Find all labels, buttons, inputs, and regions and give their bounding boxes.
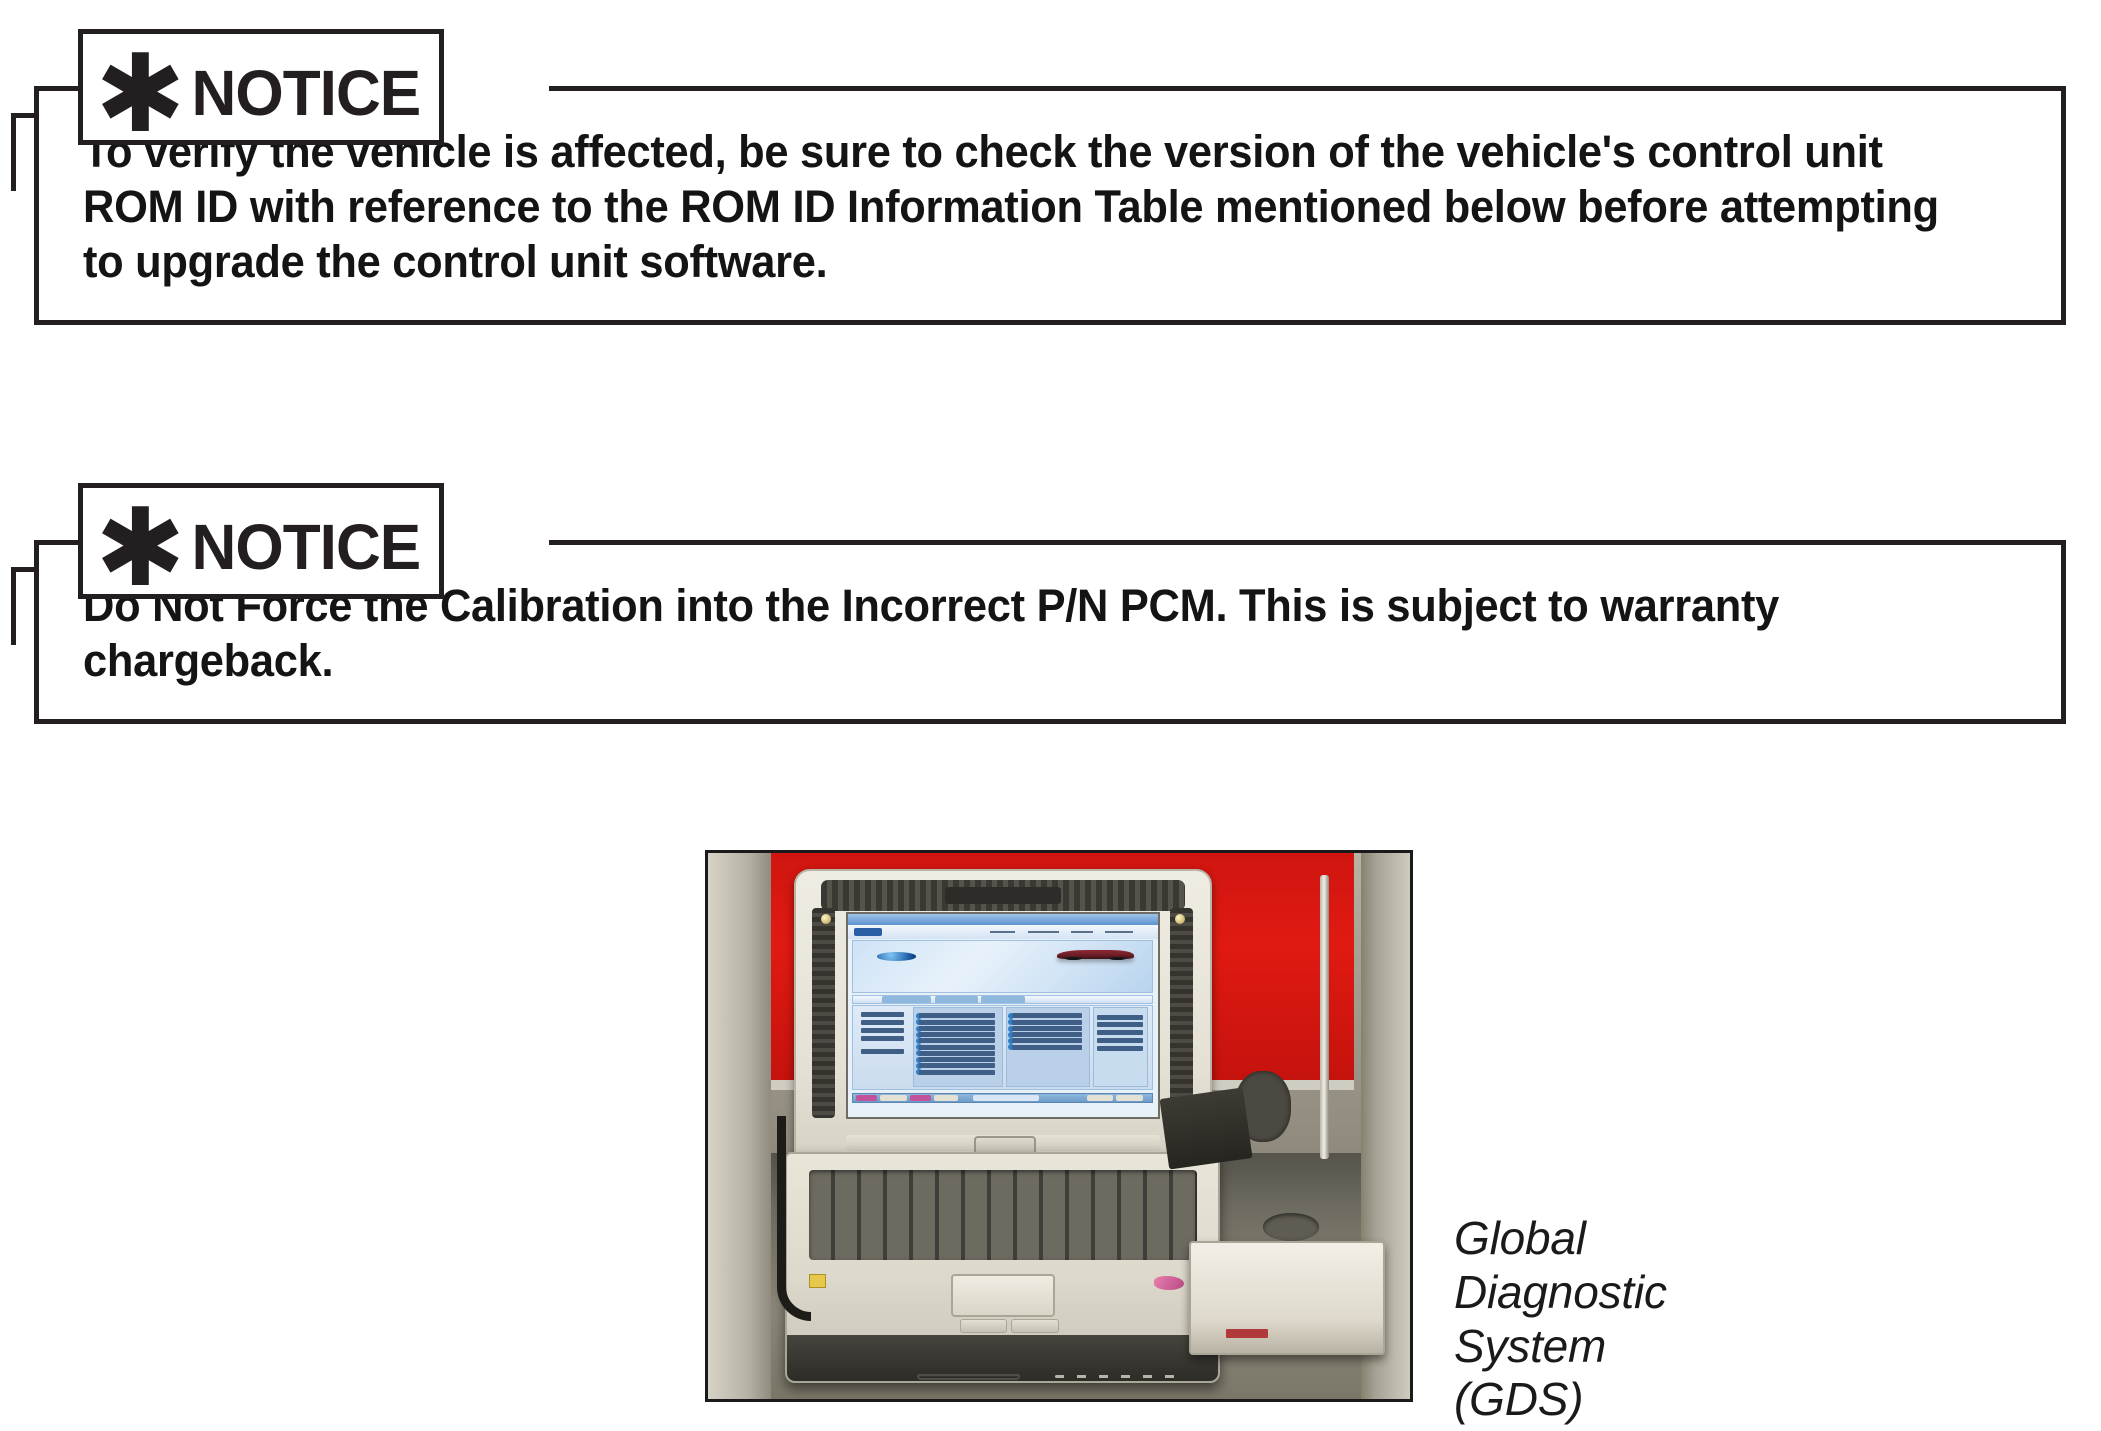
front-rail <box>787 1335 1218 1380</box>
software-status-bar <box>852 1093 1153 1103</box>
status-button-4 <box>934 1095 958 1101</box>
left-list-item <box>861 1020 905 1025</box>
notice-label: NOTICE <box>191 515 420 579</box>
menu-list-item <box>919 1063 994 1068</box>
notice-header-2: ✱ NOTICE <box>78 483 444 599</box>
right-list-item <box>1097 1038 1143 1043</box>
software-logo <box>854 928 882 937</box>
software-left-column <box>858 1007 909 1087</box>
software-right-column <box>1093 1007 1148 1087</box>
asterisk-icon: ✱ <box>95 65 186 124</box>
menu-item-4 <box>1105 931 1133 933</box>
software-menu-column-2 <box>1006 1007 1090 1087</box>
menu-item-1 <box>990 931 1015 933</box>
gds-photo <box>705 850 1413 1402</box>
menu-list-item <box>919 1020 994 1025</box>
menu-list-item <box>919 1070 994 1075</box>
gds-software-screen <box>846 912 1160 1119</box>
software-tab-2 <box>935 996 978 1003</box>
menu-item-3 <box>1071 931 1093 933</box>
right-list-item <box>1097 1022 1143 1027</box>
notice-callout-2: ✱ NOTICE Do Not Force the Calibration in… <box>34 540 2066 724</box>
brand-plate <box>945 887 1061 904</box>
status-button-6 <box>1116 1095 1143 1101</box>
touchpad-button-right <box>1011 1319 1058 1333</box>
keyboard <box>809 1170 1197 1261</box>
software-banner <box>852 940 1153 993</box>
menu-list-item <box>1012 1038 1082 1043</box>
menu-list-item <box>919 1026 994 1031</box>
photo-caption: Global Diagnostic System (GDS) <box>1454 1212 1667 1427</box>
diagnostic-cable <box>777 1116 812 1321</box>
dock-arm <box>1160 1088 1253 1170</box>
floor-cable-hole <box>1263 1213 1319 1240</box>
lid-screw-right <box>1175 914 1185 924</box>
gas-strut-right <box>1320 875 1329 1159</box>
menu-list-item <box>1012 1032 1082 1037</box>
photo-frame <box>705 850 1413 1402</box>
port-icon-row <box>1055 1375 1176 1378</box>
status-button-5 <box>1087 1095 1114 1101</box>
menu-list-item <box>1012 1020 1082 1025</box>
status-button-1 <box>856 1095 877 1101</box>
notice-left-notch-vertical <box>11 113 16 191</box>
menu-list-item <box>919 1032 994 1037</box>
menu-list-item <box>1012 1013 1082 1018</box>
toughbook-laptop <box>785 869 1220 1382</box>
status-button-3 <box>910 1095 931 1101</box>
asterisk-icon: ✱ <box>95 519 186 578</box>
software-main-panel <box>852 1005 1153 1090</box>
menu-item-2 <box>1028 931 1059 933</box>
notice-label: NOTICE <box>191 61 420 125</box>
lid-hinge-left <box>812 908 835 1118</box>
notice-body-1: ✱ NOTICE To verify the vehicle is affect… <box>34 86 2066 325</box>
menu-list-item <box>919 1038 994 1043</box>
menu-list-item <box>1012 1045 1082 1050</box>
menu-list-item <box>1012 1026 1082 1031</box>
cart-side-wall-left <box>708 853 771 1399</box>
status-button-2 <box>880 1095 907 1101</box>
right-list-item <box>1097 1046 1143 1051</box>
software-menu-column-1 <box>913 1007 1003 1087</box>
laptop-base <box>785 1152 1220 1383</box>
menu-list-item <box>919 1051 994 1056</box>
left-list-item <box>861 1028 905 1033</box>
software-tab-3 <box>981 996 1024 1003</box>
left-list-item <box>861 1012 905 1017</box>
notice-callout-1: ✱ NOTICE To verify the vehicle is affect… <box>34 86 2066 325</box>
software-tab-1 <box>882 996 932 1003</box>
status-field <box>973 1095 1039 1101</box>
lid-hinge-right <box>1170 908 1193 1118</box>
laptop-lid <box>794 869 1212 1156</box>
software-title-bar <box>848 914 1158 924</box>
menu-list-item <box>919 1057 994 1062</box>
left-list-item <box>861 1049 905 1054</box>
notice-body-2: ✱ NOTICE Do Not Force the Calibration in… <box>34 540 2066 724</box>
right-list-item <box>1097 1015 1143 1020</box>
menu-list-item <box>919 1013 994 1018</box>
vehicle-image <box>1057 950 1135 959</box>
globe-icon <box>877 952 916 961</box>
carry-handle <box>917 1374 1020 1379</box>
right-list-item <box>1097 1030 1143 1035</box>
notice-header-1: ✱ NOTICE <box>78 29 444 145</box>
touchpad-button-left <box>960 1319 1007 1333</box>
touchpad <box>951 1274 1054 1317</box>
lid-screw-left <box>821 914 831 924</box>
menu-list-item <box>919 1045 994 1050</box>
manufacturer-logo <box>1154 1276 1184 1290</box>
left-list-item <box>861 1036 905 1041</box>
secondary-closed-laptop <box>1189 1241 1386 1356</box>
warning-sticker <box>809 1274 826 1288</box>
notice-left-notch-vertical <box>11 567 16 645</box>
notice-text-1: To verify the vehicle is affected, be su… <box>83 125 1949 290</box>
